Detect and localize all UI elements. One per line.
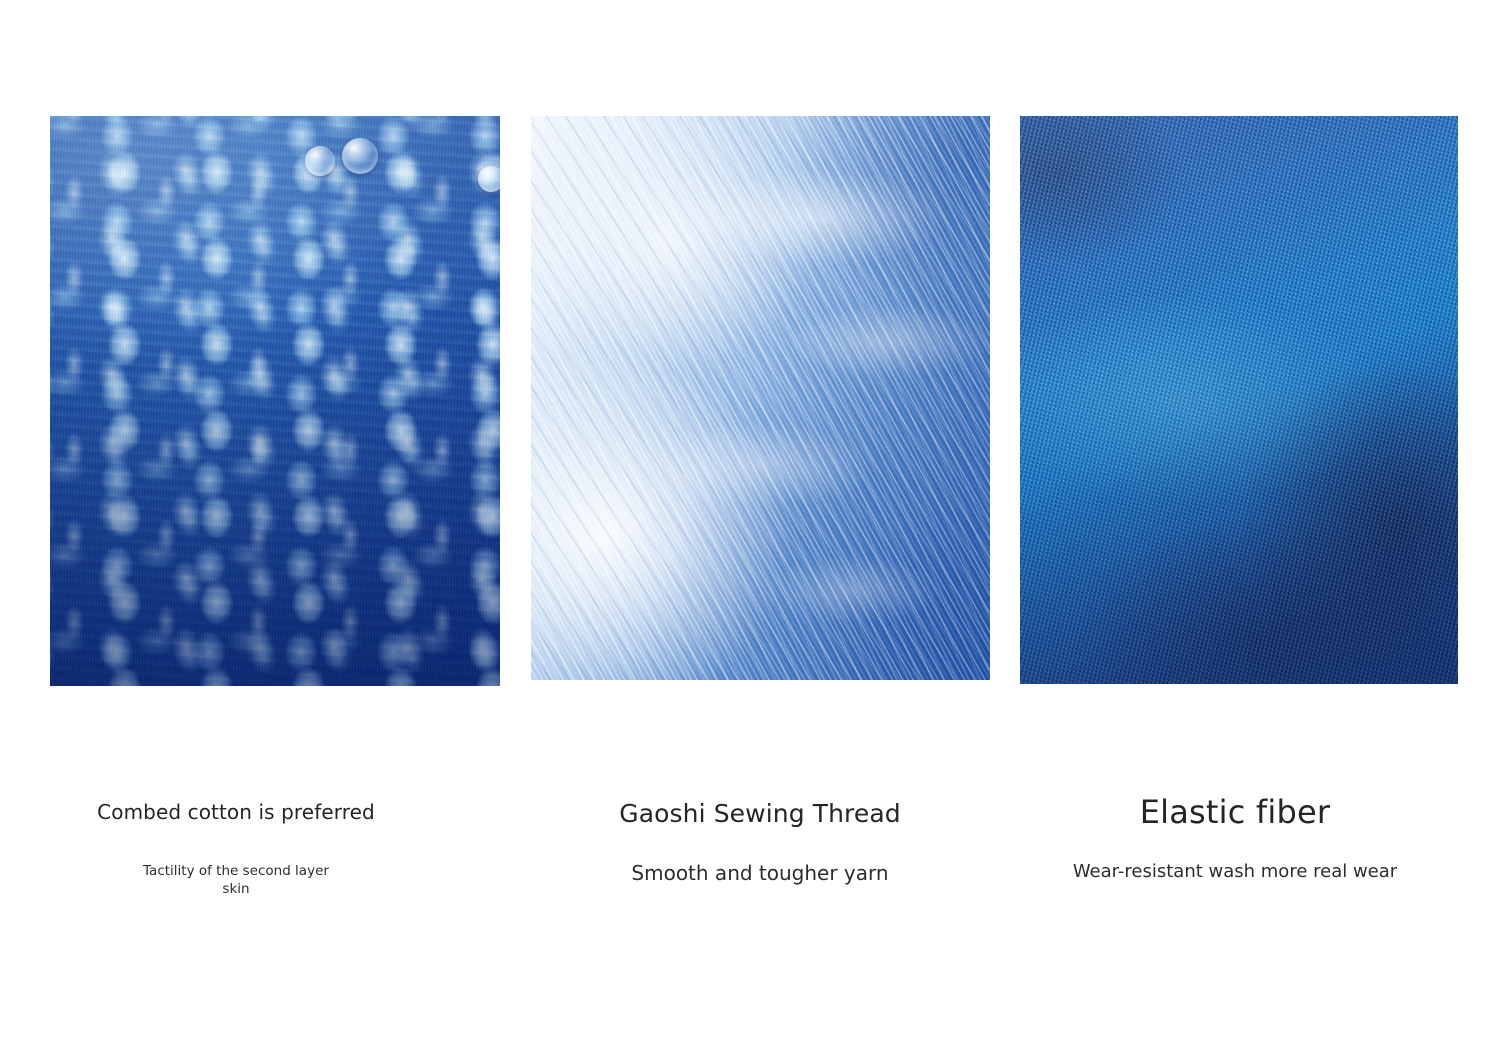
feature-showcase: Combed cotton is preferred Tactility of …: [0, 0, 1500, 1040]
feature-image-elastic-fiber[interactable]: [1020, 116, 1458, 684]
feature-subtitle: Tactility of the second layerskin: [36, 863, 436, 898]
panel-shading-overlay: [531, 116, 990, 680]
feature-caption-gaoshi-sewing-thread: Gaoshi Sewing Thread Smooth and tougher …: [530, 798, 990, 886]
feature-title: Combed cotton is preferred: [36, 800, 436, 825]
feature-caption-combed-cotton: Combed cotton is preferred Tactility of …: [36, 800, 436, 898]
feature-image-combed-cotton[interactable]: [50, 116, 500, 686]
feature-subtitle: Smooth and tougher yarn: [530, 860, 990, 886]
panel-shading-overlay: [50, 116, 500, 686]
feature-caption-elastic-fiber: Elastic fiber Wear-resistant wash more r…: [1015, 792, 1455, 883]
feature-title: Gaoshi Sewing Thread: [530, 798, 990, 829]
feature-title: Elastic fiber: [1015, 792, 1455, 832]
feature-subtitle: Wear-resistant wash more real wear: [1015, 860, 1455, 883]
feature-image-gaoshi-sewing-thread[interactable]: [531, 116, 990, 680]
panel-shading-overlay: [1020, 116, 1458, 684]
